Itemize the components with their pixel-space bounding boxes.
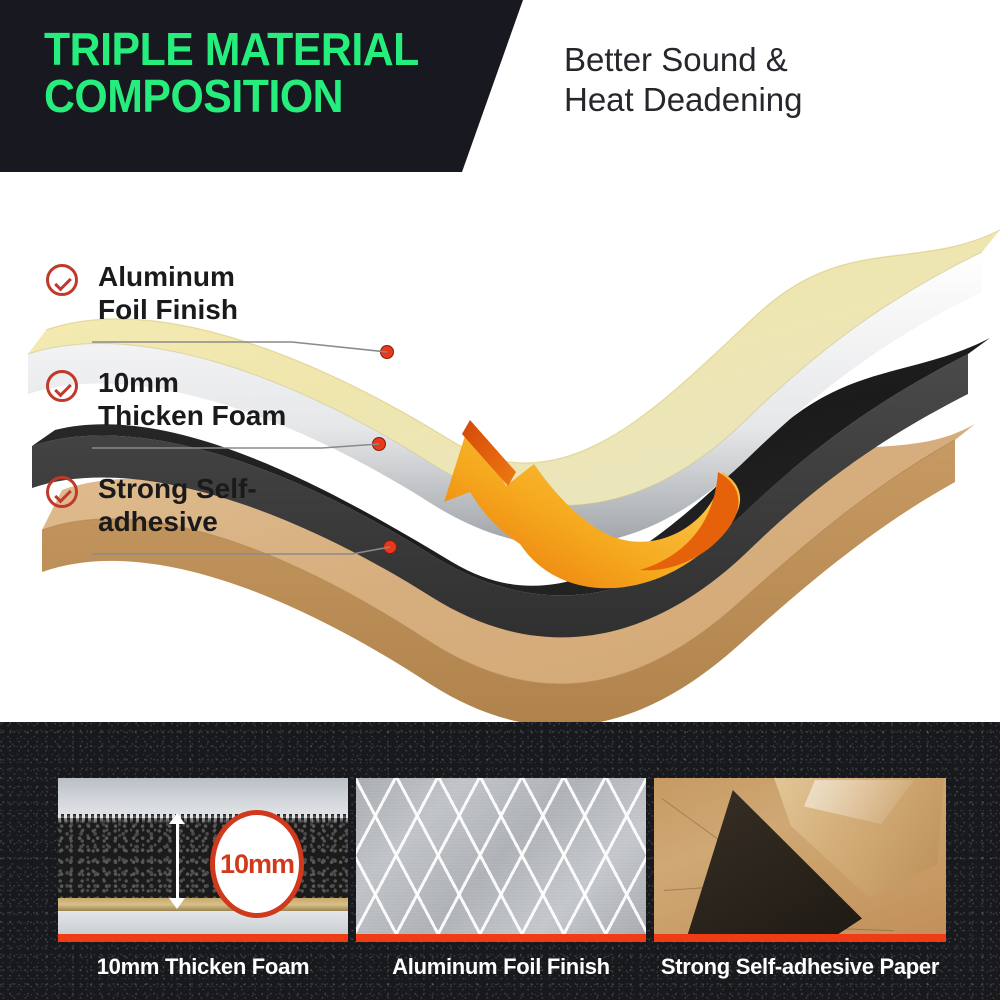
title-line-2: COMPOSITION xyxy=(44,73,463,120)
subtitle-line-1: Better Sound & xyxy=(564,40,984,80)
gallery-cards: 10mm 10mm Thicken Foam Aluminum Foil Fin… xyxy=(0,722,1000,1000)
backing-surface xyxy=(58,911,348,934)
thickness-badge: 10mm xyxy=(210,810,304,918)
feature-item-10mm-thicken-foam: 10mm Thicken Foam xyxy=(46,366,286,432)
thickness-measure-arrow-icon xyxy=(176,822,179,900)
gallery-card-foil xyxy=(356,778,646,942)
feature-item-strong-self-adhesive: Strong Self- adhesive xyxy=(46,472,257,538)
gallery-card-foam: 10mm xyxy=(58,778,348,942)
page-title: TRIPLE MATERIAL COMPOSITION xyxy=(44,26,494,120)
kraft-peel-backing-photo xyxy=(654,778,946,934)
foam-jagged-boundary xyxy=(58,814,348,824)
exploded-layer-stack xyxy=(0,172,1000,722)
feature-label-line-2: adhesive xyxy=(98,505,257,538)
thickness-badge-label: 10mm xyxy=(220,849,294,880)
check-circle-icon xyxy=(46,476,78,508)
gallery-caption-adhesive: Strong Self-adhesive Paper xyxy=(650,954,950,980)
foam-core-texture xyxy=(58,818,348,900)
feature-item-aluminum-foil-finish: Aluminum Foil Finish xyxy=(46,260,238,326)
feature-label-line-1: Aluminum xyxy=(98,260,238,293)
feature-label-line-1: Strong Self- xyxy=(98,472,257,505)
diagram-section: Aluminum Foil Finish 10mm Thicken Foam S… xyxy=(0,172,1000,722)
check-circle-icon xyxy=(46,370,78,402)
foam-cross-section-photo: 10mm xyxy=(58,778,348,934)
gallery-card-adhesive xyxy=(654,778,946,942)
foil-diamond-lattice xyxy=(356,778,646,934)
feature-label-line-1: 10mm xyxy=(98,366,286,399)
header-subtitle: Better Sound & Heat Deadening xyxy=(564,40,984,120)
aluminum-foil-diamond-pattern-photo xyxy=(356,778,646,934)
check-circle-icon xyxy=(46,264,78,296)
gallery-caption-foil: Aluminum Foil Finish xyxy=(356,954,646,980)
accent-bar xyxy=(356,934,646,942)
title-line-1: TRIPLE MATERIAL xyxy=(44,26,463,73)
gallery-section: 10mm 10mm Thicken Foam Aluminum Foil Fin… xyxy=(0,722,1000,1000)
accent-bar xyxy=(58,934,348,942)
feature-label-line-2: Foil Finish xyxy=(98,293,238,326)
adhesive-band xyxy=(58,898,348,911)
infographic-page: TRIPLE MATERIAL COMPOSITION Better Sound… xyxy=(0,0,1000,1000)
accent-bar xyxy=(654,934,946,942)
subtitle-line-2: Heat Deadening xyxy=(564,80,984,120)
gallery-caption-foam: 10mm Thicken Foam xyxy=(58,954,348,980)
header-band: TRIPLE MATERIAL COMPOSITION Better Sound… xyxy=(0,0,1000,172)
feature-label-line-2: Thicken Foam xyxy=(98,399,286,432)
